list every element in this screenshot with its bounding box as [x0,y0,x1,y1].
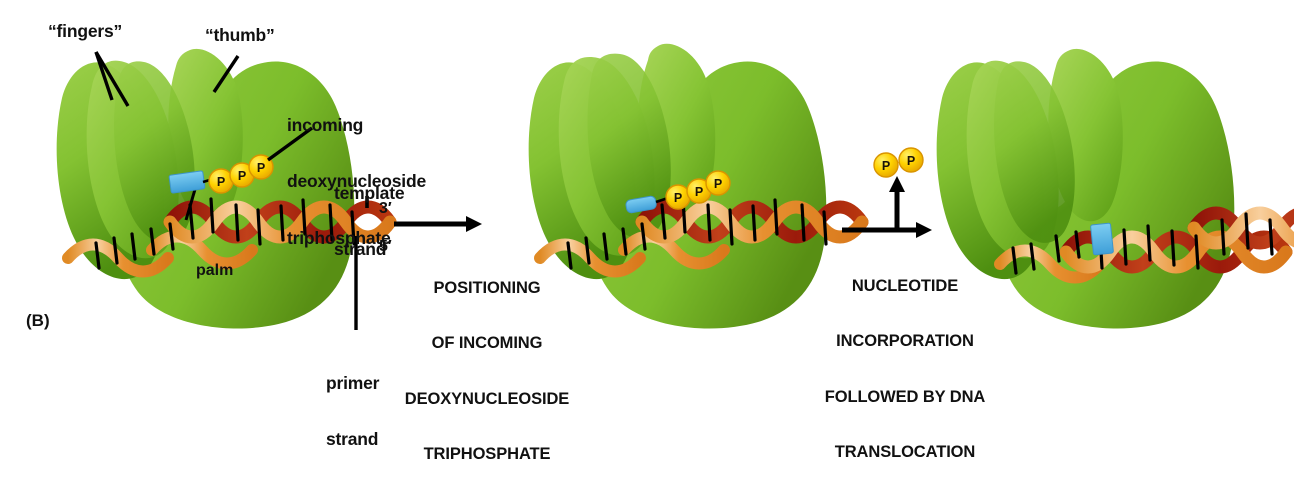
step-2-caption-line-2: INCORPORATION [810,332,1000,350]
panel-label: (B) [26,312,50,330]
phosphate-letter: P [907,154,915,168]
released-pyrophosphate: P P [874,148,923,177]
phosphate-letter: P [238,169,246,183]
incorporated-nucleotide-icon [1090,223,1113,255]
label-five-prime: 5′ [379,238,392,255]
figure-canvas: P P P [0,0,1294,400]
label-template-strand-line-1: template [334,184,404,203]
step-2-caption-line-4: TRANSLOCATION [810,443,1000,461]
step-1-caption: POSITIONING OF INCOMING DEOXYNUCLEOSIDE … [392,242,582,501]
step-1-caption-line-1: POSITIONING [392,279,582,297]
step-1-caption-line-3: DEOXYNUCLEOSIDE [392,390,582,408]
label-fingers: “fingers” [48,22,122,41]
label-primer-strand-line-2: strand [326,430,379,449]
label-primer-strand-line-1: primer [326,374,379,393]
step-2-caption-line-3: FOLLOWED BY DNA [810,388,1000,406]
label-thumb: “thumb” [205,26,275,45]
label-three-prime: 3′ [379,200,392,217]
phosphate-letter: P [882,159,890,173]
step-2-caption: NUCLEOTIDE INCORPORATION FOLLOWED BY DNA… [810,240,1000,499]
phosphate-letter: P [714,177,722,191]
step-1-caption-line-2: OF INCOMING [392,334,582,352]
phosphate-letter: P [217,175,225,189]
diagram-graphics: P P P [0,0,1294,400]
phosphate-letter: P [257,161,265,175]
step-2-caption-line-1: NUCLEOTIDE [810,277,1000,295]
phosphate-letter: P [695,185,703,199]
phosphate-letter: P [674,191,682,205]
step-1-caption-line-4: TRIPHOSPHATE [392,445,582,463]
label-primer-strand: primer strand [326,336,379,487]
label-palm: palm [196,262,233,279]
label-incoming-dntp-line-1: incoming [287,116,426,135]
